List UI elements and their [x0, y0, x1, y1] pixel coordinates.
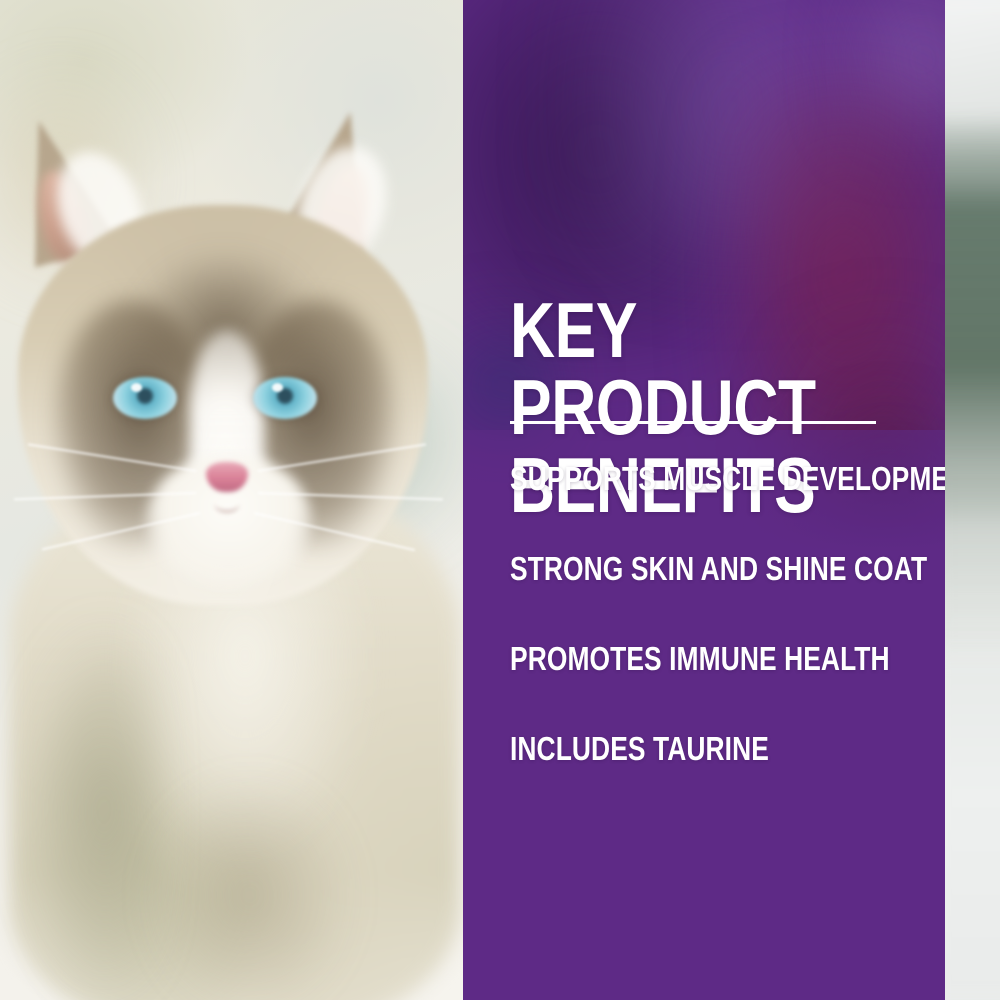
cat-eye-right — [253, 377, 317, 419]
right-strip-green-band — [945, 120, 1000, 520]
benefit-item: INCLUDES TAURINE — [510, 732, 846, 766]
benefits-panel: KEY PRODUCT BENEFITS SUPPORTS MUSCLE DEV… — [463, 0, 945, 1000]
cat-eye-left-highlight — [131, 383, 142, 392]
cat-eye-left — [113, 377, 177, 419]
benefits-content: KEY PRODUCT BENEFITS SUPPORTS MUSCLE DEV… — [510, 0, 930, 1000]
cat-photo — [0, 0, 463, 1000]
benefit-item: PROMOTES IMMUNE HEALTH — [510, 642, 846, 676]
benefit-item: STRONG SKIN AND SHINE COAT — [510, 552, 846, 586]
right-strip-lower — [945, 650, 1000, 1000]
cat-body-shadow-center — [150, 780, 350, 1000]
benefits-list: SUPPORTS MUSCLE DEVELOPMENT STRONG SKIN … — [510, 462, 930, 822]
cat-body-shadow-left — [20, 620, 160, 1000]
heading-divider — [510, 421, 876, 424]
right-photo-strip — [945, 0, 1000, 1000]
benefit-item: SUPPORTS MUSCLE DEVELOPMENT — [510, 462, 846, 496]
product-benefits-banner: KEY PRODUCT BENEFITS SUPPORTS MUSCLE DEV… — [0, 0, 1000, 1000]
cat-eye-right-highlight — [272, 383, 283, 392]
cat-mouth — [214, 494, 240, 513]
